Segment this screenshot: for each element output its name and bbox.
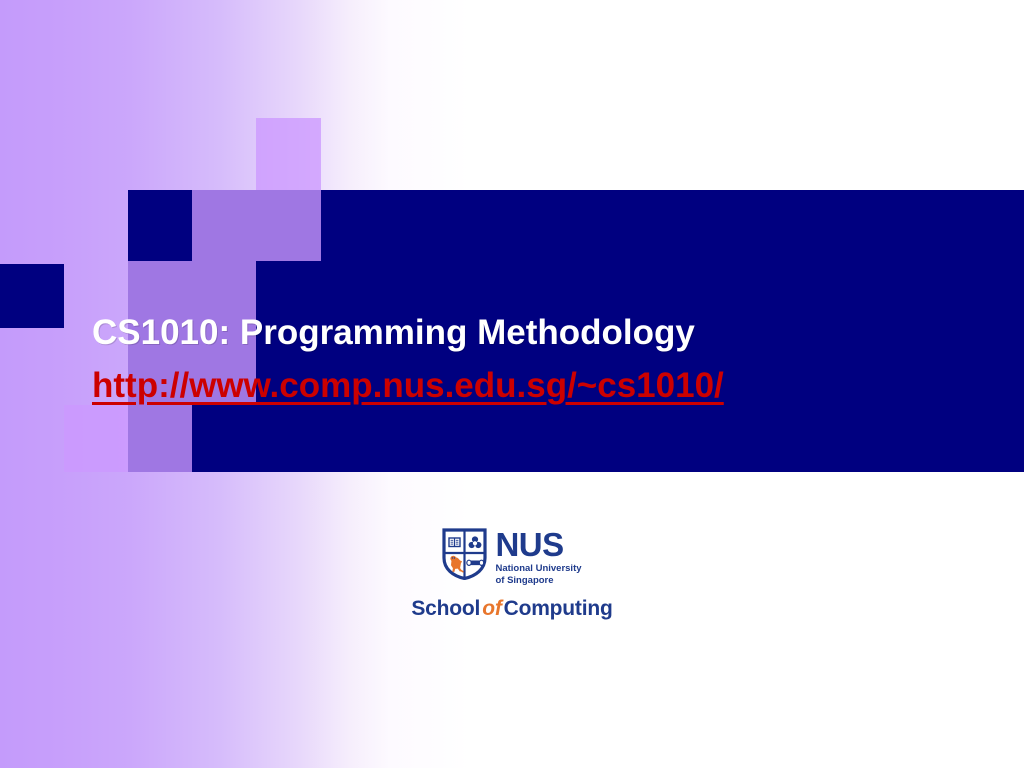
mosaic-square: [256, 190, 321, 261]
school-word: School: [411, 597, 480, 620]
nus-logo-top-row: NUS National University of Singapore: [442, 528, 581, 586]
mosaic-square: [256, 118, 321, 190]
presentation-slide: CS1010: Programming Methodology http://w…: [0, 0, 1024, 768]
nus-shield-crest-icon: [442, 528, 487, 580]
nus-full-name-line1: National University: [495, 563, 581, 574]
slide-text-block: CS1010: Programming Methodology http://w…: [92, 306, 972, 412]
nus-acronym: NUS: [495, 529, 563, 560]
nus-logo: NUS National University of Singapore Sch…: [0, 528, 1024, 621]
school-of-computing-wordmark: SchoolofComputing: [0, 597, 1024, 621]
course-website-link[interactable]: http://www.comp.nus.edu.sg/~cs1010/: [92, 359, 972, 412]
nus-wordmark: NUS National University of Singapore: [495, 528, 581, 586]
slide-title: CS1010: Programming Methodology: [92, 306, 972, 359]
computing-word: Computing: [504, 597, 613, 620]
navy-accent-square: [0, 264, 64, 328]
nus-full-name: National University of Singapore: [495, 563, 581, 586]
nus-full-name-line2: of Singapore: [495, 575, 553, 586]
mosaic-square: [192, 190, 256, 261]
of-word: of: [480, 597, 503, 620]
mosaic-square: [64, 405, 128, 472]
mosaic-square: [128, 405, 192, 472]
